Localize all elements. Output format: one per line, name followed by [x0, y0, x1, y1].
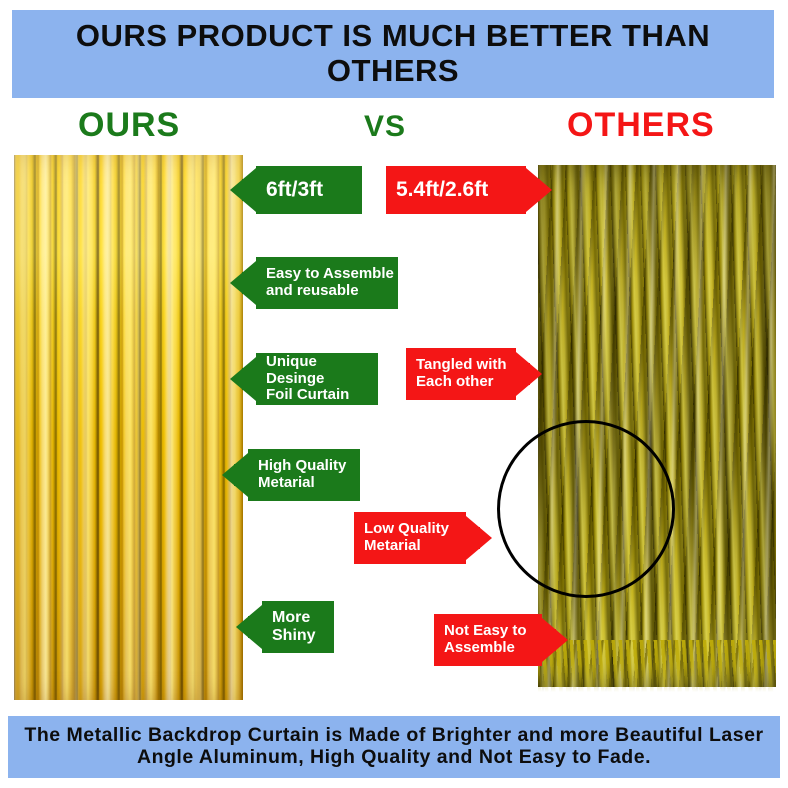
- callout-label: 5.4ft/2.6ft: [386, 178, 526, 202]
- callout-ours-size: 6ft/3ft: [256, 166, 362, 214]
- callout-label: Tangled with Each other: [406, 357, 516, 391]
- callout-ours-shine: More Shiny: [262, 601, 334, 653]
- callout-label: Easy to Assemble and reusable: [256, 266, 398, 300]
- callout-others-assembly: Not Easy to Assemble: [434, 614, 542, 666]
- header-banner: OURS PRODUCT IS MUCH BETTER THAN OTHERS: [12, 10, 774, 98]
- arrow-shaft: [248, 616, 262, 638]
- defect-highlight-circle: [497, 420, 675, 598]
- comparison-infographic: OURS PRODUCT IS MUCH BETTER THAN OTHERS …: [0, 0, 788, 788]
- arrow-shaft: [542, 629, 556, 651]
- arrow-shaft: [526, 179, 540, 201]
- arrow-shaft: [242, 179, 256, 201]
- callout-label: More Shiny: [262, 609, 334, 645]
- arrow-shaft: [234, 464, 248, 486]
- callout-others-size: 5.4ft/2.6ft: [386, 166, 526, 214]
- footer-description: The Metallic Backdrop Curtain is Made of…: [8, 725, 780, 769]
- callout-label: 6ft/3ft: [256, 178, 362, 202]
- callout-others-quality: Low Quality Metarial: [354, 512, 466, 564]
- arrow-shaft: [242, 368, 256, 390]
- page-title: OURS PRODUCT IS MUCH BETTER THAN OTHERS: [12, 19, 774, 88]
- callout-label: Low Quality Metarial: [354, 521, 466, 555]
- arrow-shaft: [516, 363, 530, 385]
- callout-label: High Quality Metarial: [248, 458, 360, 492]
- callout-ours-quality: High Quality Metarial: [248, 449, 360, 501]
- arrow-shaft: [242, 272, 256, 294]
- callout-ours-assembly: Easy to Assemble and reusable: [256, 257, 398, 309]
- callout-label: Not Easy to Assemble: [434, 623, 542, 657]
- callout-ours-design: Unique Desinge Foil Curtain: [256, 353, 378, 405]
- callout-label: Unique Desinge Foil Curtain: [256, 354, 378, 404]
- column-heading-others: OTHERS: [567, 106, 715, 145]
- arrow-shaft: [466, 527, 480, 549]
- column-heading-ours: OURS: [78, 106, 180, 145]
- callout-others-tangled: Tangled with Each other: [406, 348, 516, 400]
- footer-banner: The Metallic Backdrop Curtain is Made of…: [8, 716, 780, 778]
- product-image-ours: [14, 155, 243, 700]
- column-heading-vs: VS: [364, 110, 406, 144]
